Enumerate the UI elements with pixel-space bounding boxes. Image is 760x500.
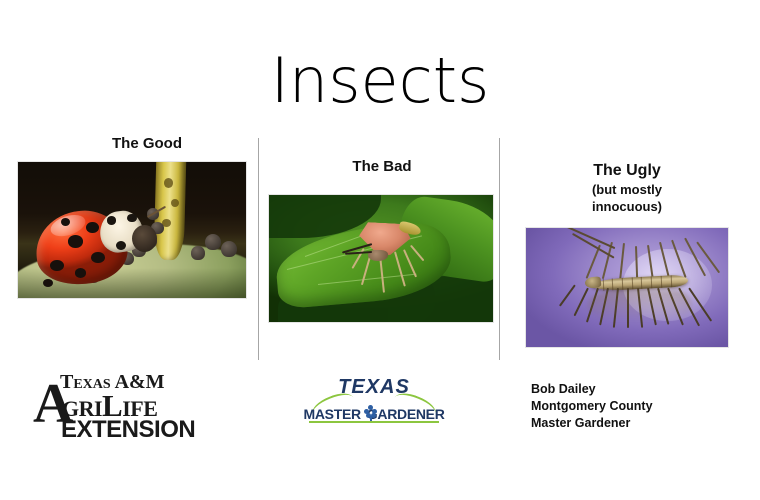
ladybug-spot (50, 260, 64, 271)
ladybug-head (132, 225, 157, 252)
pronotum-spot (127, 214, 136, 222)
column-subheading-ugly-line1: (but mostly (527, 182, 727, 198)
presenter-credit: Bob Dailey Montgomery County Master Gard… (531, 381, 653, 432)
logo-underline (309, 421, 439, 423)
stink-bug-on-leaf-photo (269, 195, 493, 322)
body-segment (650, 276, 652, 288)
ladybug-eating-aphids-photo (18, 162, 246, 298)
column-heading-ugly: The Ugly (527, 161, 727, 181)
aphid (221, 241, 237, 257)
body-segment (670, 275, 672, 287)
texas-master-gardener-logo: TEXAS MASTER GARDENER (309, 376, 439, 424)
body-segment (660, 276, 662, 288)
slide-canvas: Insects The Good The Bad The Ugly (but m… (0, 0, 760, 500)
aphid (205, 234, 221, 250)
master-gardener-logo-master: MASTER (303, 406, 360, 422)
column-divider-1 (258, 138, 259, 360)
body-segment (631, 277, 633, 289)
presenter-name: Bob Dailey (531, 381, 653, 398)
body-segment (641, 277, 643, 289)
column-subheading-ugly-line2: innocuous) (527, 199, 727, 215)
column-heading-bad: The Bad (282, 157, 482, 176)
pronotum-spot (107, 216, 116, 224)
stem-marking (171, 199, 179, 207)
house-centipede-photo (526, 228, 728, 347)
master-gardener-logo-texas: TEXAS (309, 376, 439, 398)
body-segment (621, 278, 623, 290)
master-gardener-logo-gardener: GARDENER (367, 406, 445, 422)
aphid (191, 246, 205, 260)
centipede-head (584, 276, 601, 288)
column-divider-2 (499, 138, 500, 360)
body-segment (612, 278, 614, 290)
body-segment (602, 279, 604, 291)
ladybug-spot (68, 235, 83, 247)
agrilife-logo-line-extension: EXTENSION (61, 418, 195, 442)
stem-marking (164, 178, 173, 188)
column-heading-ugly-group: The Ugly (but mostly innocuous) (527, 161, 727, 215)
page-title: Insects (0, 44, 760, 118)
presenter-role: Master Gardener (531, 415, 653, 432)
surface-reflection (587, 290, 692, 321)
ladybug-spot (86, 222, 99, 233)
texas-am-agrilife-extension-logo: A Texas A&M griLife EXTENSION (33, 370, 213, 440)
ladybug-spot (91, 252, 105, 263)
presenter-organization: Montgomery County (531, 398, 653, 415)
column-heading-good: The Good (47, 134, 247, 153)
ladybug-spot (75, 268, 86, 278)
